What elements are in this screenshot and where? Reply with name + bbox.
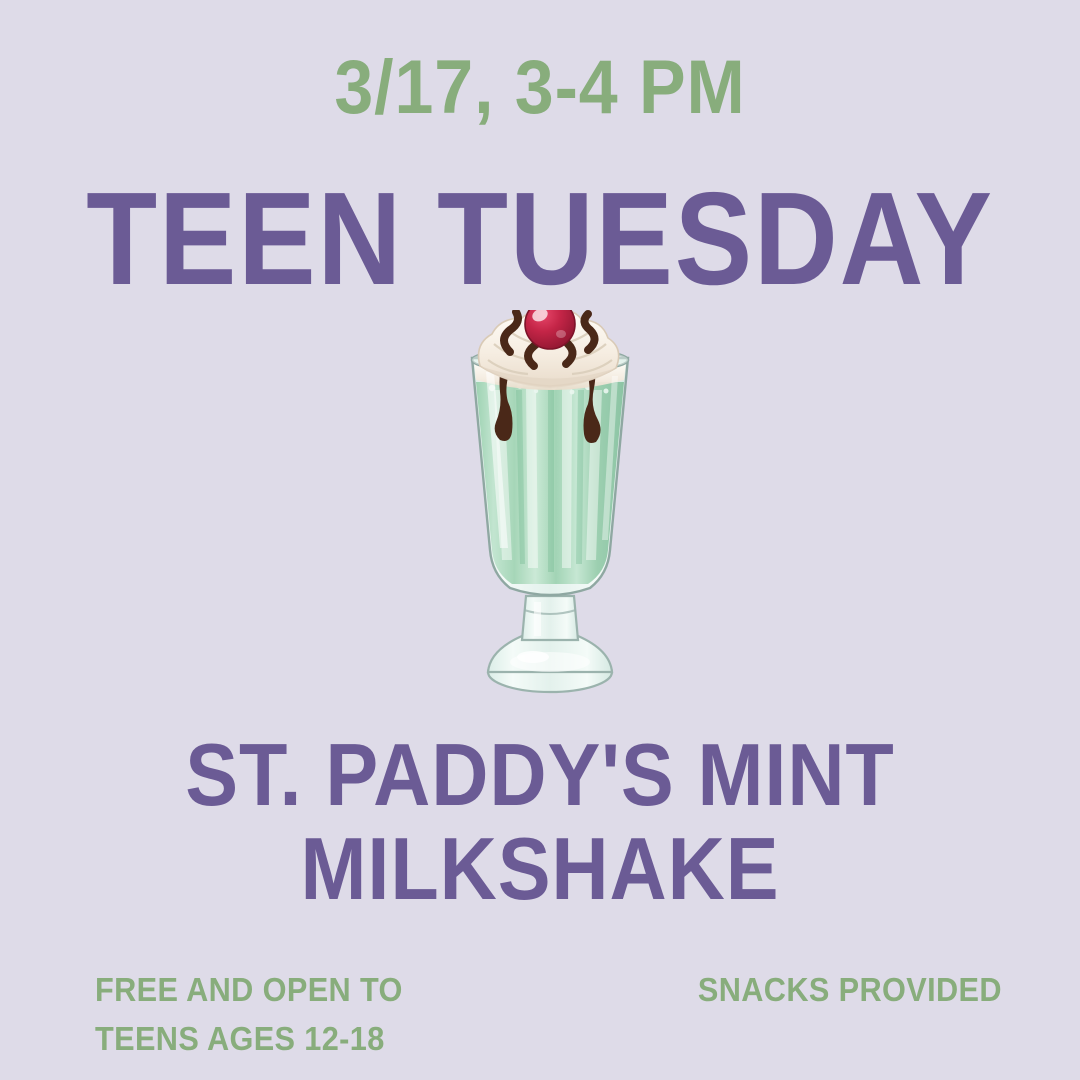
event-poster: 3/17, 3-4 PM TEEN TUESDAY — [0, 0, 1080, 1080]
footer-left-line-2: TEENS AGES 12-18 — [95, 1014, 403, 1063]
page-title: TEEN TUESDAY — [65, 168, 1015, 310]
subtitle-line-2: MILKSHAKE — [54, 822, 1026, 916]
glass-stem — [522, 596, 578, 640]
footer-eligibility-note: FREE AND OPEN TO TEENS AGES 12-18 — [95, 965, 403, 1063]
event-date-time: 3/17, 3-4 PM — [43, 44, 1037, 132]
glass-foot — [488, 636, 612, 692]
mint-milkshake-illustration — [430, 310, 670, 710]
subtitle-line-1: ST. PADDY'S MINT — [54, 728, 1026, 822]
milkshake-graphic — [430, 310, 670, 710]
footer-left-line-1: FREE AND OPEN TO — [95, 965, 403, 1014]
footer-snacks-note: SNACKS PROVIDED — [698, 965, 1002, 1014]
event-subtitle: ST. PADDY'S MINT MILKSHAKE — [54, 728, 1026, 916]
